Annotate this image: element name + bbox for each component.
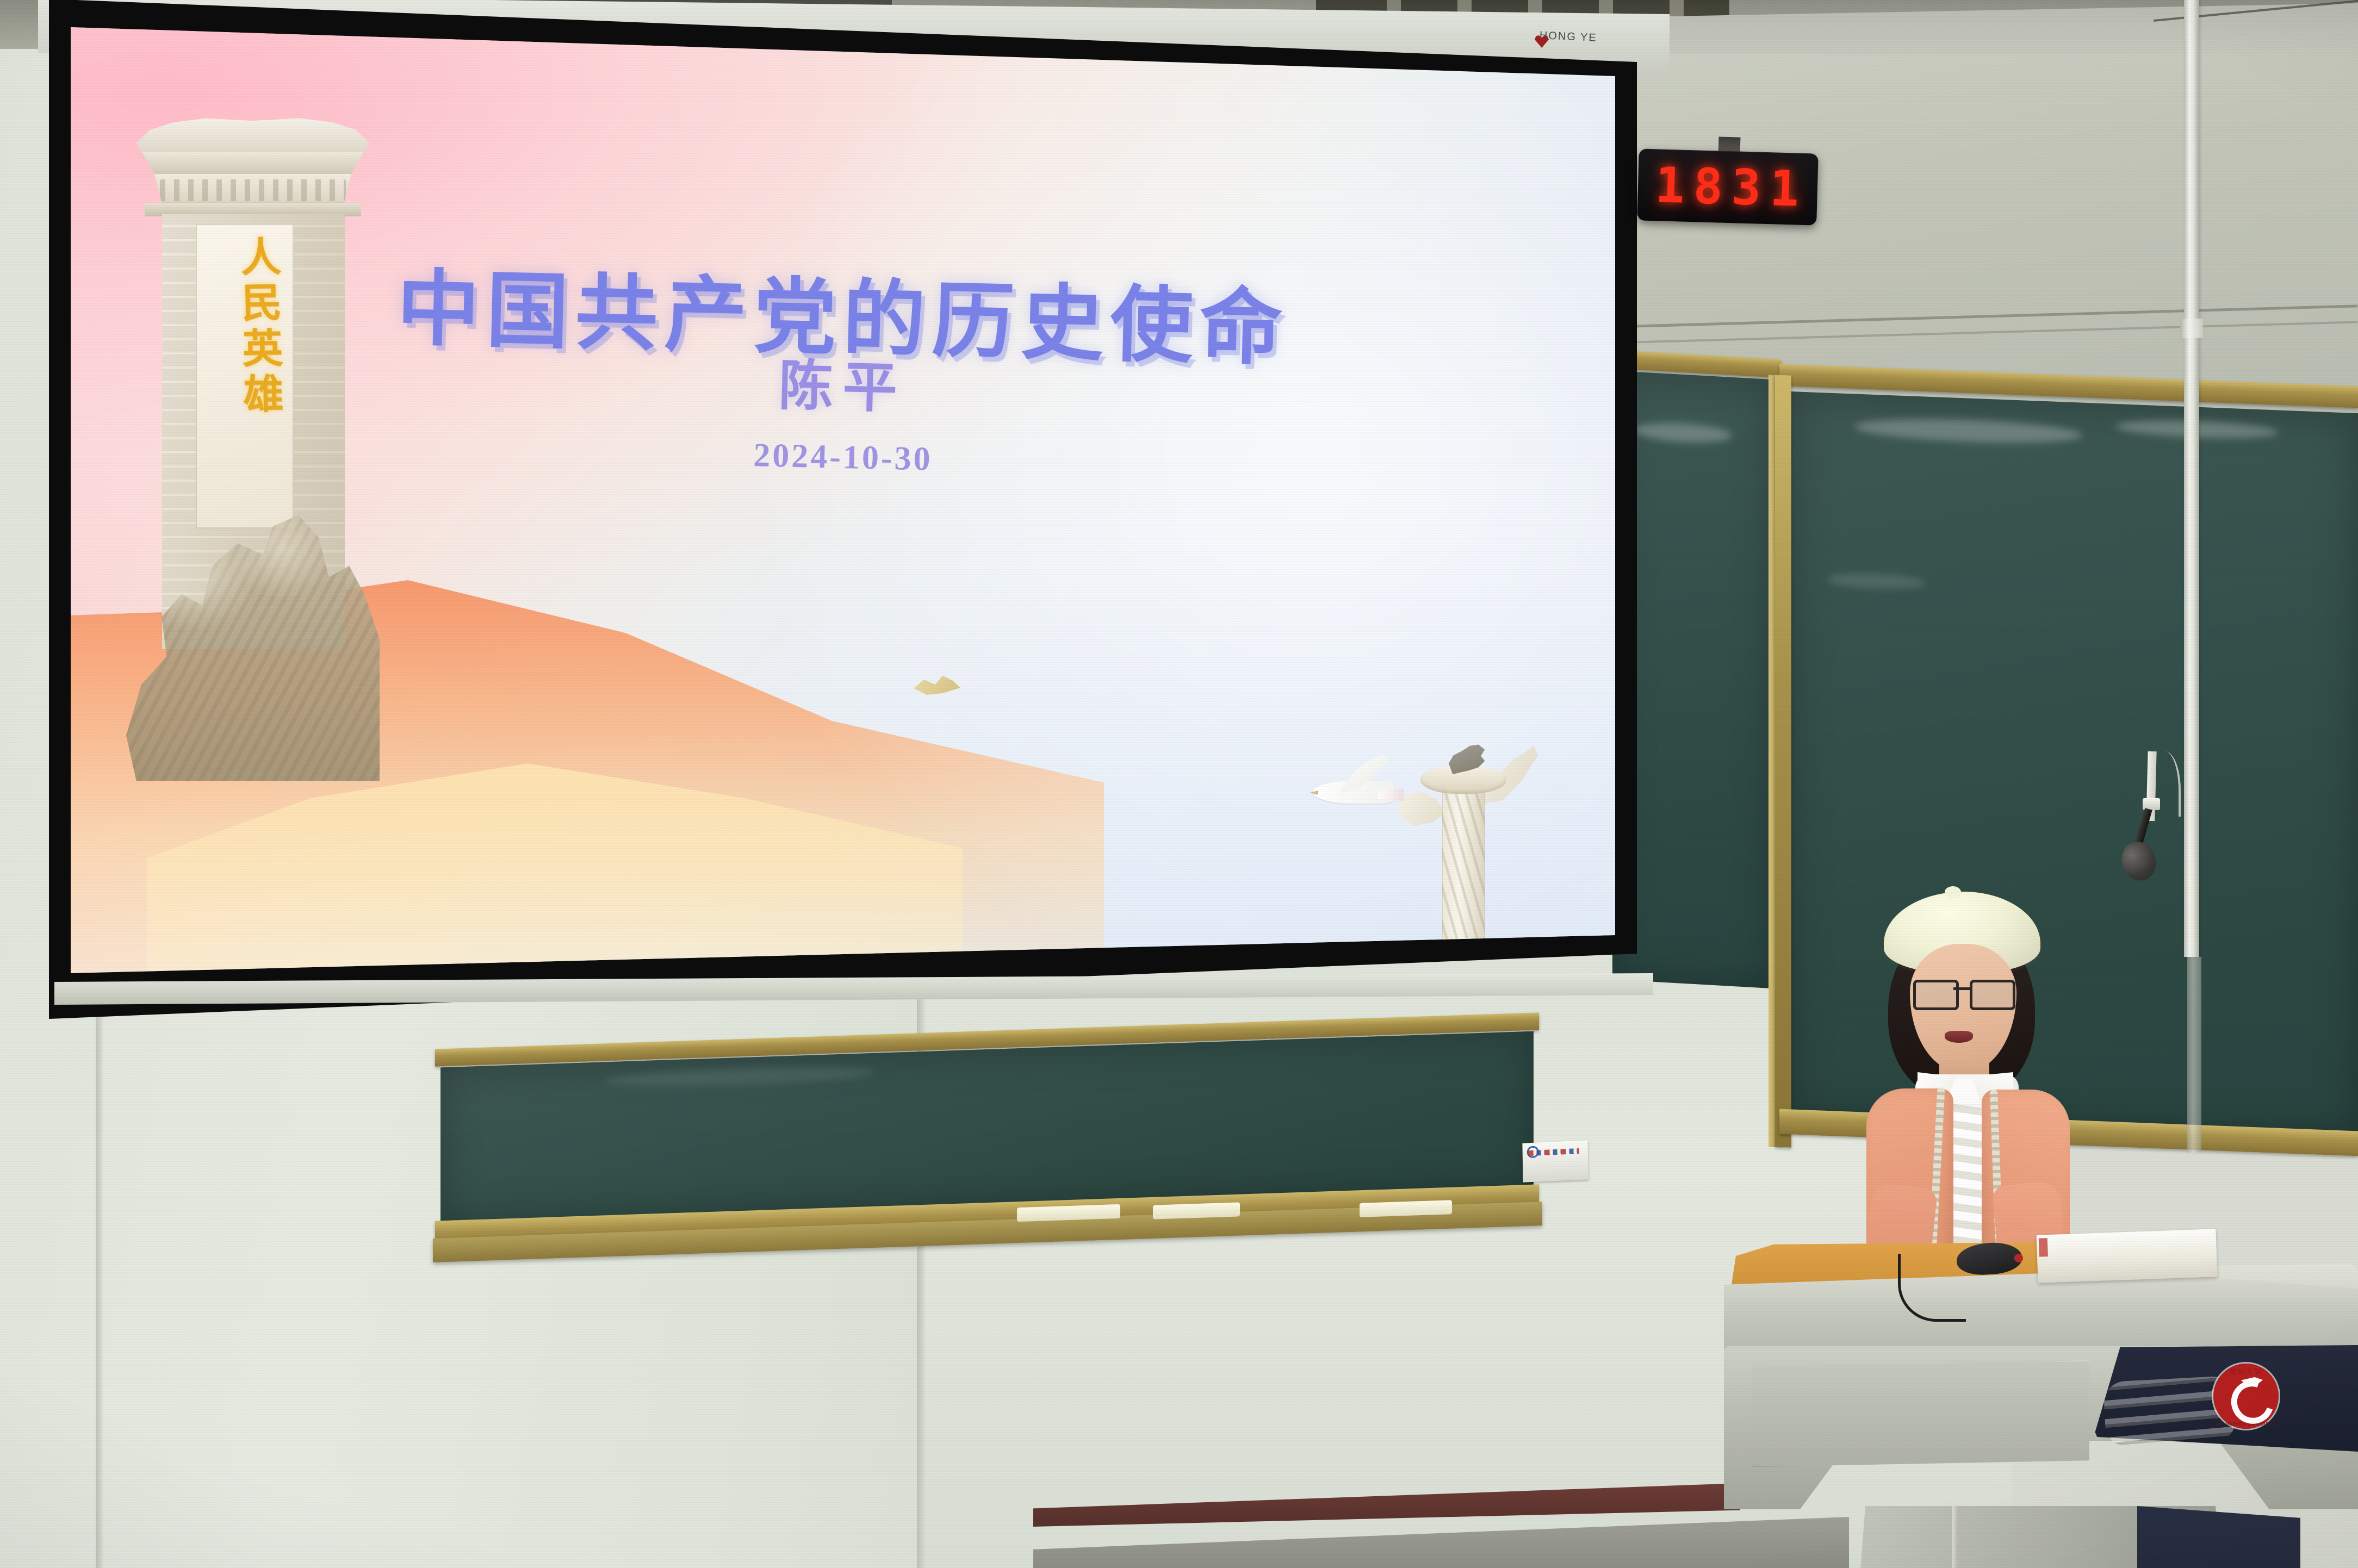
beret-nub (1945, 886, 1961, 898)
chalkboard-left-panel (1612, 371, 1776, 989)
vertical-pipe (2184, 0, 2199, 957)
dove-icon (1313, 755, 1405, 813)
chalkboard-frame-left (1775, 375, 1791, 1147)
changzhou-university-logo: 常州大学 CHANGZHOU UNIVERSITY (2213, 1364, 2279, 1429)
mouse-indicator-light (2014, 1254, 2023, 1262)
huabiao-shaft (1442, 784, 1485, 963)
clock-time-display: 1831 (1647, 156, 1809, 217)
vertical-pipe-lower (2187, 957, 2201, 1153)
glasses-icon (1913, 980, 2013, 1005)
pipe-joint (2180, 319, 2203, 338)
projected-slide: 人民英雄 中国共产党的历史使命 陈平 2024-10-30 (71, 16, 1615, 973)
huabiao-column (1392, 732, 1534, 966)
podium-pillar-accent (2137, 1506, 2300, 1568)
chalk-box[interactable] (1522, 1140, 1588, 1182)
monument-cornice (142, 152, 363, 176)
podium-pillar-highlight (1952, 1506, 1958, 1568)
lecture-podium: 常州大学 CHANGZHOU UNIVERSITY (1724, 1223, 2358, 1568)
speaker-mouth (1945, 1031, 1973, 1043)
lecture-hall-scene: HONG YE 人民英雄 (0, 0, 2358, 1568)
monument-balustrade (154, 174, 351, 206)
podium-front-panel[interactable] (1752, 1360, 2089, 1467)
digital-clock: 1831 (1637, 148, 1819, 225)
book-on-podium[interactable] (2037, 1229, 2218, 1283)
logo-emblem-icon (2224, 1374, 2268, 1418)
chalk-box-logo-icon (1527, 1146, 1538, 1158)
wall-pilaster-left (96, 1000, 103, 1568)
chalk-stick[interactable] (1153, 1202, 1240, 1219)
